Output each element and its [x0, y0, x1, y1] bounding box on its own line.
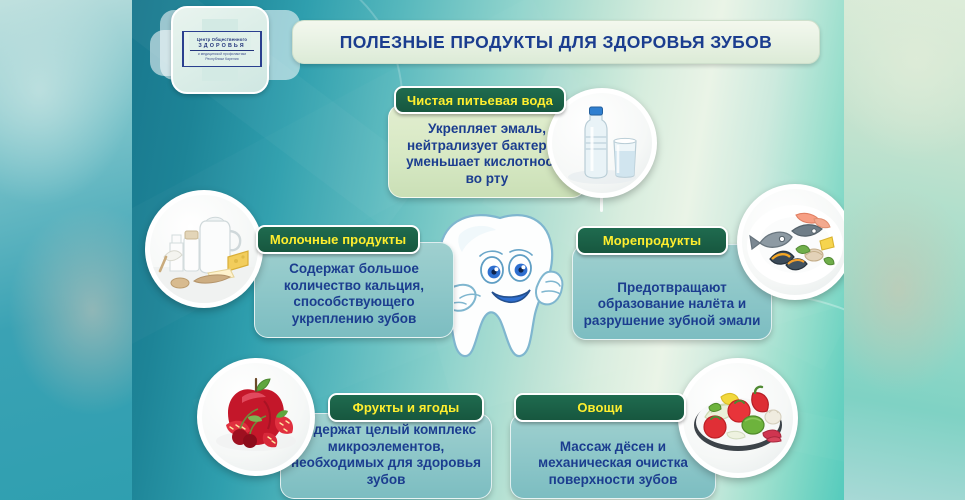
right-blurred-border [844, 0, 965, 500]
card-vegetables-label-text: Овощи [577, 400, 622, 415]
photo-inner [552, 93, 652, 193]
card-dairy-label: Молочные продукты [256, 225, 420, 254]
poster-artwork: ПОЛЕЗНЫЕ ПРОДУКТЫ ДЛЯ ЗДОРОВЬЯ ЗУБОВ Цен… [132, 0, 844, 500]
card-fruit-label: Фрукты и ягоды [328, 393, 484, 422]
photo-inner [150, 195, 258, 303]
card-vegetables-text: Массаж дёсен и механическая очистка пове… [511, 439, 715, 498]
page-title-bar: ПОЛЕЗНЫЕ ПРОДУКТЫ ДЛЯ ЗДОРОВЬЯ ЗУБОВ [292, 20, 820, 64]
card-seafood-label: Морепродукты [576, 226, 728, 255]
seafood-plate-photo [737, 184, 844, 300]
infographic-poster: ПОЛЕЗНЫЕ ПРОДУКТЫ ДЛЯ ЗДОРОВЬЯ ЗУБОВ Цен… [0, 0, 965, 500]
vegetables-plate-photo [678, 358, 798, 478]
card-seafood-label-text: Морепродукты [603, 233, 701, 248]
card-water-label-text: Чистая питьевая вода [407, 93, 553, 108]
left-blurred-border [0, 0, 132, 500]
card-vegetables-label: Овощи [514, 393, 686, 422]
photo-inner [202, 363, 310, 471]
logo-line-3: и медицинской профилактики [198, 52, 246, 56]
card-seafood-text: Предотвращают образование налёта и разру… [573, 280, 771, 339]
organization-logo: Центр Общественного ЗДОРОВЬЯ и медицинск… [171, 6, 269, 94]
card-dairy-text: Содержат большое количество кальция, спо… [255, 261, 453, 337]
logo-text-block: Центр Общественного ЗДОРОВЬЯ и медицинск… [182, 31, 262, 67]
page-title: ПОЛЕЗНЫЕ ПРОДУКТЫ ДЛЯ ЗДОРОВЬЯ ЗУБОВ [340, 32, 772, 53]
photo-inner [683, 363, 793, 473]
logo-line-2: ЗДОРОВЬЯ [198, 43, 245, 49]
logo-line-4: Республики Карелия [205, 57, 238, 61]
logo-divider [190, 50, 254, 51]
fruits-and-berries-photo [197, 358, 315, 476]
dairy-products-photo [145, 190, 263, 308]
card-dairy: Содержат большое количество кальция, спо… [254, 242, 454, 338]
card-dairy-label-text: Молочные продукты [270, 232, 406, 247]
photo-inner [742, 189, 844, 295]
card-dairy-body: Содержат большое количество кальция, спо… [254, 242, 454, 338]
logo-line-1: Центр Общественного [197, 37, 247, 42]
card-fruit-label-text: Фрукты и ягоды [353, 400, 460, 415]
card-water-label: Чистая питьевая вода [394, 86, 566, 114]
